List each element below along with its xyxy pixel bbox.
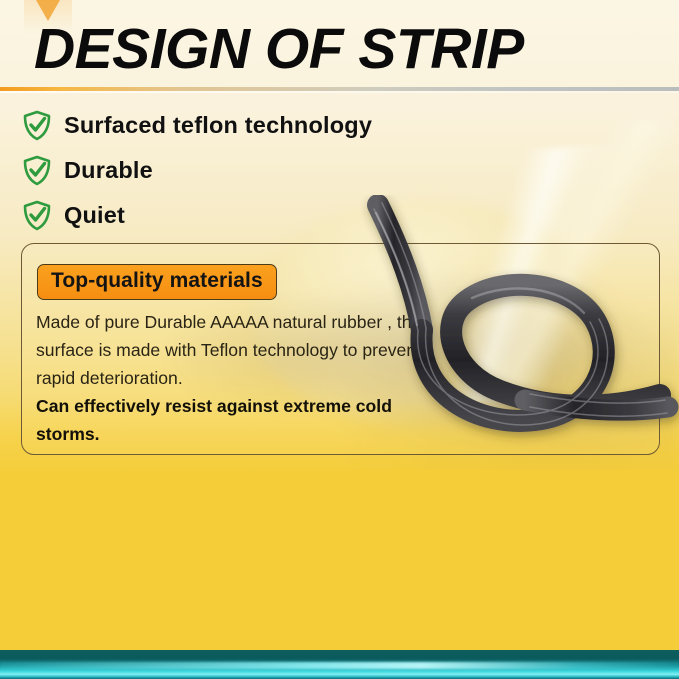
feature-label: Durable xyxy=(64,157,153,184)
shield-check-icon xyxy=(22,200,52,231)
shield-check-icon xyxy=(22,110,52,141)
product-infographic-poster: DESIGN OF STRIP Surfaced teflon technolo… xyxy=(0,0,679,679)
shield-check-icon xyxy=(22,155,52,186)
page-title: DESIGN OF STRIP xyxy=(34,18,524,80)
feature-label: Surfaced teflon technology xyxy=(64,112,372,139)
footer-highlight xyxy=(0,662,679,669)
wiper-blade-loop-image xyxy=(360,195,679,460)
title-divider-highlight xyxy=(0,91,679,93)
status-badge: Top-quality materials xyxy=(37,264,277,300)
feature-item: Durable xyxy=(22,148,542,193)
bottom-section: High temperature xyxy=(0,470,679,650)
feature-label: Quiet xyxy=(64,202,125,229)
feature-item: Surfaced teflon technology xyxy=(22,103,542,148)
